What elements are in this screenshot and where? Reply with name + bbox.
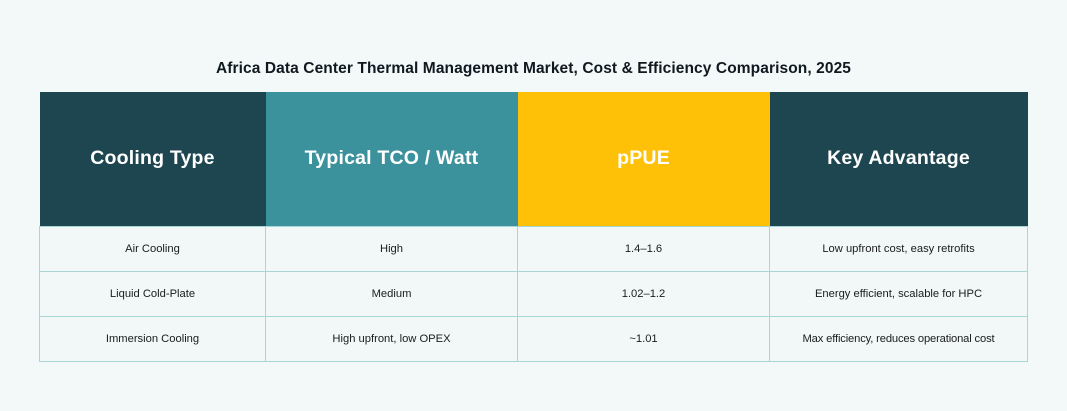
comparison-table-container: Cooling Type Typical TCO / Watt pPUE Key… xyxy=(39,92,1027,362)
page-title: Africa Data Center Thermal Management Ma… xyxy=(0,60,1067,78)
table-header-row: Cooling Type Typical TCO / Watt pPUE Key… xyxy=(40,92,1028,226)
cell-ppue: 1.02–1.2 xyxy=(518,271,770,316)
table-body: Air Cooling High 1.4–1.6 Low upfront cos… xyxy=(40,226,1028,361)
cell-cooling-type: Immersion Cooling xyxy=(40,316,266,361)
cell-cooling-type: Air Cooling xyxy=(40,226,266,271)
table-row: Liquid Cold-Plate Medium 1.02–1.2 Energy… xyxy=(40,271,1028,316)
table-figure: Africa Data Center Thermal Management Ma… xyxy=(0,0,1067,411)
comparison-table: Cooling Type Typical TCO / Watt pPUE Key… xyxy=(39,92,1028,362)
cell-tco-per-watt: High xyxy=(266,226,518,271)
cell-key-advantage: Energy efficient, scalable for HPC xyxy=(770,271,1028,316)
table-header: Cooling Type Typical TCO / Watt pPUE Key… xyxy=(40,92,1028,226)
cell-tco-per-watt: Medium xyxy=(266,271,518,316)
table-row: Air Cooling High 1.4–1.6 Low upfront cos… xyxy=(40,226,1028,271)
column-header-ppue: pPUE xyxy=(518,92,770,226)
cell-ppue: 1.4–1.6 xyxy=(518,226,770,271)
cell-ppue: ~1.01 xyxy=(518,316,770,361)
cell-cooling-type: Liquid Cold-Plate xyxy=(40,271,266,316)
column-header-key-advantage: Key Advantage xyxy=(770,92,1028,226)
cell-key-advantage: Max efficiency, reduces operational cost xyxy=(770,316,1028,361)
table-row: Immersion Cooling High upfront, low OPEX… xyxy=(40,316,1028,361)
cell-key-advantage: Low upfront cost, easy retrofits xyxy=(770,226,1028,271)
cell-tco-per-watt: High upfront, low OPEX xyxy=(266,316,518,361)
column-header-cooling-type: Cooling Type xyxy=(40,92,266,226)
column-header-tco-per-watt: Typical TCO / Watt xyxy=(266,92,518,226)
